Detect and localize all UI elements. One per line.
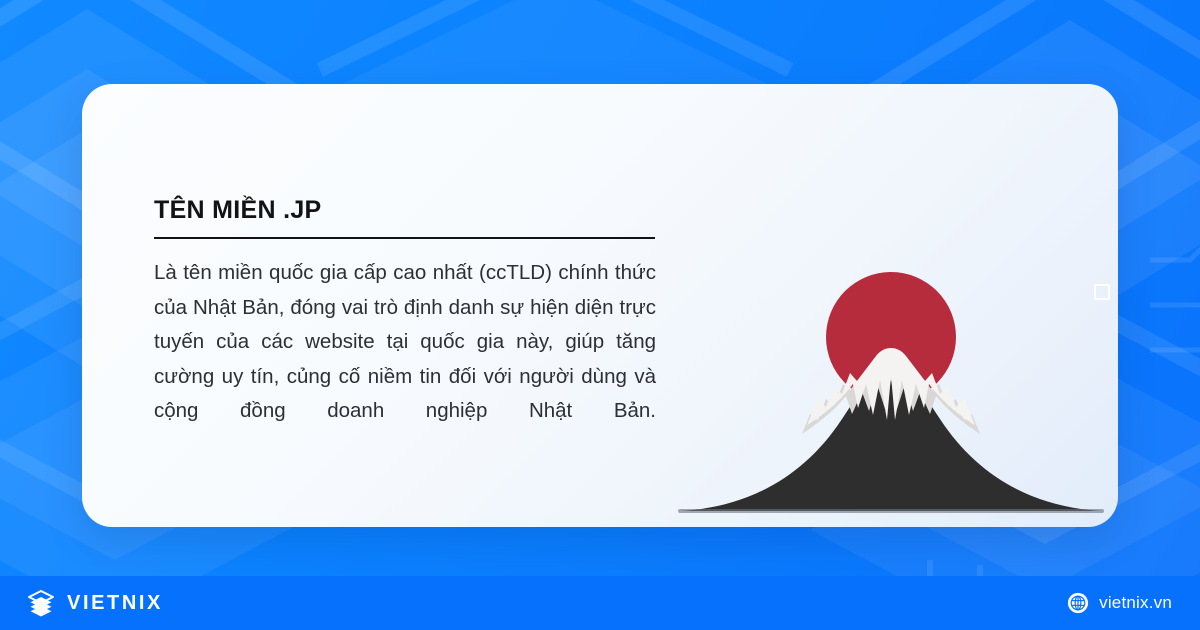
poster-canvas: TÊN MIỀN .JP Là tên miền quốc gia cấp ca… bbox=[0, 0, 1200, 630]
stacked-layers-icon bbox=[26, 588, 56, 618]
globe-icon bbox=[1067, 592, 1089, 614]
brand-name: VIETNIX bbox=[67, 592, 163, 615]
mount-fuji-illustration bbox=[674, 84, 1114, 527]
brand-logo[interactable]: VIETNIX bbox=[26, 588, 163, 618]
ground-line bbox=[678, 509, 1104, 513]
footer-bar: VIETNIX vietnix.vn bbox=[0, 576, 1200, 630]
content-card: TÊN MIỀN .JP Là tên miền quốc gia cấp ca… bbox=[82, 84, 1118, 527]
page-title: TÊN MIỀN .JP bbox=[154, 196, 656, 224]
decorative-square-outline bbox=[1094, 284, 1110, 300]
description-text: Là tên miền quốc gia cấp cao nhất (ccTLD… bbox=[154, 256, 656, 463]
title-underline bbox=[154, 237, 655, 239]
site-url-group[interactable]: vietnix.vn bbox=[1067, 592, 1172, 614]
site-url-label: vietnix.vn bbox=[1099, 593, 1172, 613]
text-column: TÊN MIỀN .JP Là tên miền quốc gia cấp ca… bbox=[154, 196, 656, 463]
